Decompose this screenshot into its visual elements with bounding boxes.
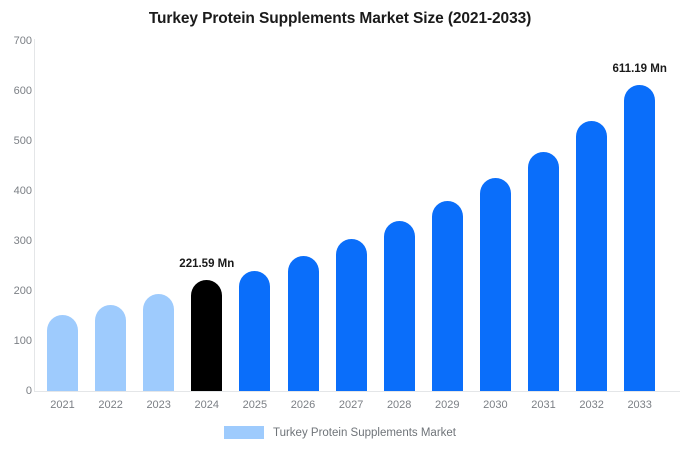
bar-2026[interactable] <box>288 256 319 391</box>
bar-2025[interactable] <box>239 271 270 391</box>
bar-2032[interactable] <box>576 121 607 391</box>
bar-2029[interactable] <box>432 201 463 392</box>
bar-chart: Turkey Protein Supplements Market Size (… <box>0 0 680 450</box>
bar-2027[interactable] <box>336 239 367 392</box>
bar-2028[interactable] <box>384 221 415 391</box>
bar-2024[interactable] <box>191 280 222 391</box>
bar-2021[interactable] <box>47 315 78 392</box>
bar-2033[interactable] <box>624 85 655 391</box>
bar-2031[interactable] <box>528 152 559 392</box>
plot-area <box>0 0 680 450</box>
bar-value-label-2033: 611.19 Mn <box>613 63 667 75</box>
legend-swatch <box>224 426 264 439</box>
x-axis-tick-label-2033: 2033 <box>610 399 670 411</box>
bar-2022[interactable] <box>95 305 126 391</box>
bar-value-label-2024: 221.59 Mn <box>179 258 234 270</box>
bar-2030[interactable] <box>480 178 511 391</box>
bar-2023[interactable] <box>143 294 174 391</box>
legend-item-label: Turkey Protein Supplements Market <box>273 427 456 439</box>
chart-legend: Turkey Protein Supplements Market <box>0 426 680 439</box>
